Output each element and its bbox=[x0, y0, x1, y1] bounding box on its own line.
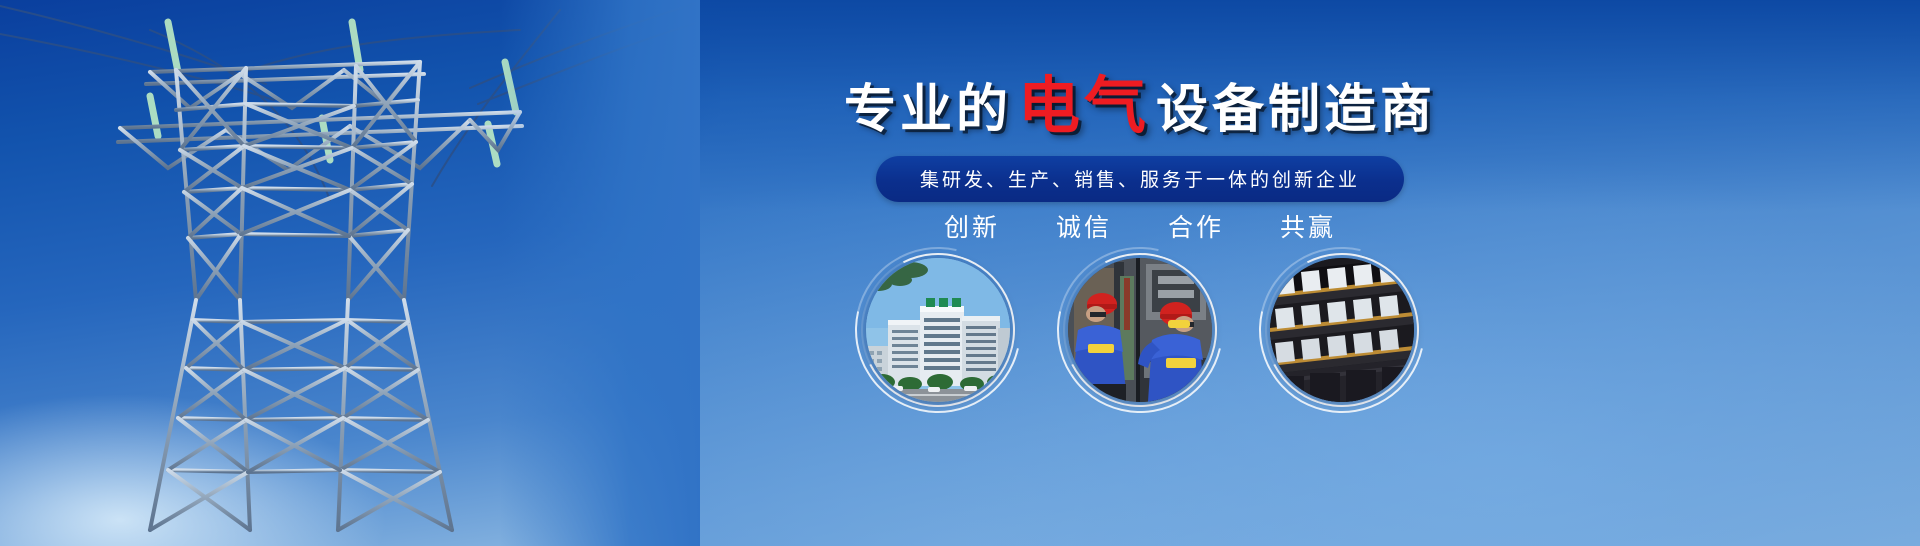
subtitle-pill-wrap: 集研发、生产、销售、服务于一体的创新企业 bbox=[640, 156, 1640, 202]
circle-photo-row bbox=[640, 258, 1640, 402]
banner-content: 专业的电气设备制造商 集研发、生产、销售、服务于一体的创新企业 创新 诚信 合作… bbox=[640, 0, 1640, 546]
headline-part-1: 专业的 bbox=[844, 81, 1012, 139]
promo-banner: 专业的电气设备制造商 集研发、生产、销售、服务于一体的创新企业 创新 诚信 合作… bbox=[0, 0, 1920, 546]
headline-part-2: 设备制造商 bbox=[1156, 81, 1436, 139]
tower-photo-fade bbox=[500, 0, 700, 546]
office-building-photo bbox=[866, 258, 1010, 402]
circle-photo-item bbox=[1068, 258, 1212, 402]
keyword-cooperation: 合作 bbox=[1168, 208, 1224, 244]
headline-highlight: 电气 bbox=[1012, 72, 1156, 141]
subtitle-pill: 集研发、生产、销售、服务于一体的创新企业 bbox=[876, 156, 1404, 202]
product-showroom-photo bbox=[1270, 258, 1414, 402]
technicians-at-work-photo bbox=[1068, 258, 1212, 402]
keyword-win-win: 共赢 bbox=[1280, 208, 1336, 244]
page-title: 专业的电气设备制造商 bbox=[640, 76, 1640, 138]
transmission-tower-photo bbox=[0, 0, 700, 546]
keyword-list: 创新 诚信 合作 共赢 bbox=[640, 208, 1640, 244]
circle-photo-item bbox=[866, 258, 1010, 402]
circle-photo-item bbox=[1270, 258, 1414, 402]
keyword-innovation: 创新 bbox=[944, 208, 1000, 244]
keyword-integrity: 诚信 bbox=[1056, 208, 1112, 244]
